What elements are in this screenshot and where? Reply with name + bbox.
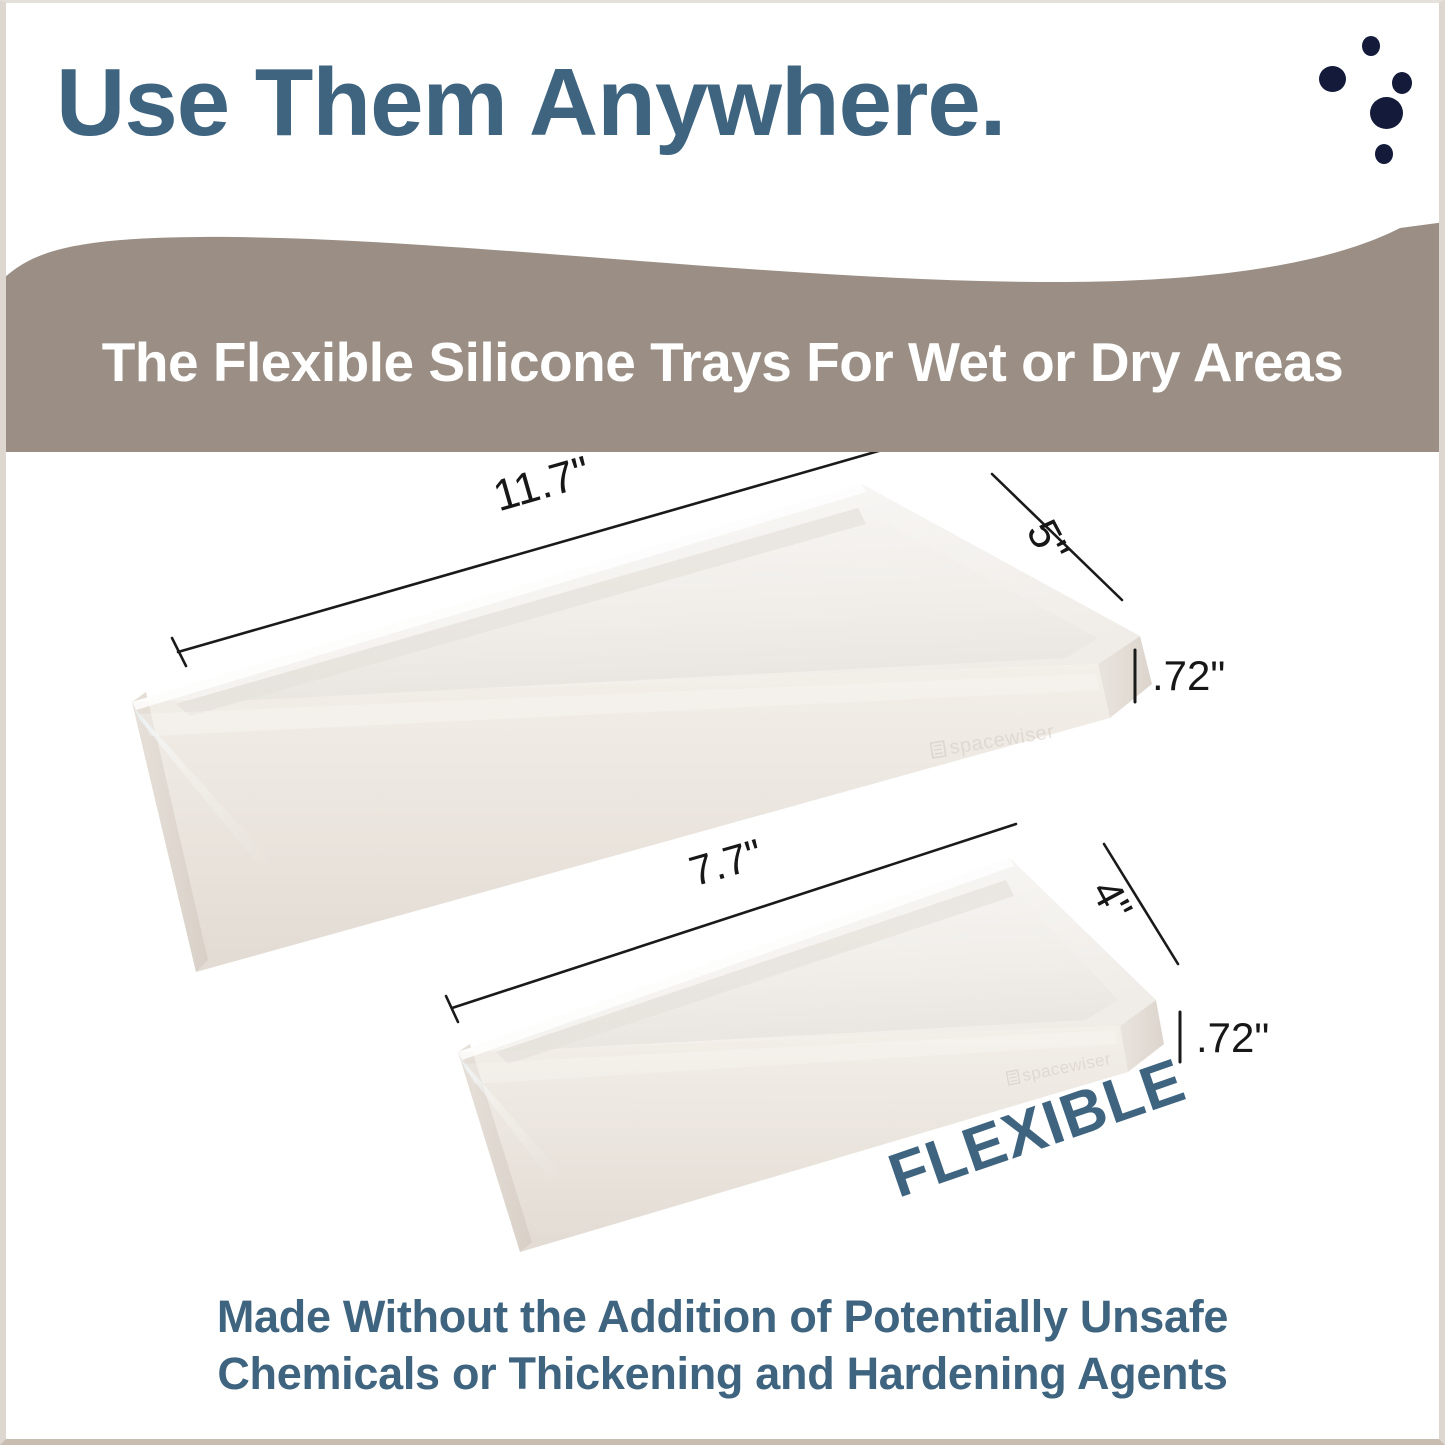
dot-icon bbox=[1319, 66, 1346, 92]
footer-text: Made Without the Addition of Potentially… bbox=[0, 1288, 1445, 1403]
product-infographic: Use Them Anywhere. The Flexible Silicone… bbox=[0, 0, 1445, 1445]
dot-icon bbox=[1370, 97, 1403, 129]
product-stage: spacewiser bbox=[0, 452, 1445, 1312]
small-silicone-tray: spacewiser bbox=[458, 858, 1164, 1252]
page-title: Use Them Anywhere. bbox=[56, 55, 1005, 151]
small-tray-height-label: .72" bbox=[1196, 1014, 1269, 1062]
dot-icon bbox=[1375, 144, 1393, 164]
decorative-dots-group bbox=[1300, 28, 1440, 168]
banner-title: The Flexible Silicone Trays For Wet or D… bbox=[0, 330, 1445, 394]
dot-icon bbox=[1392, 72, 1412, 94]
footer-line-1: Made Without the Addition of Potentially… bbox=[0, 1288, 1445, 1346]
banner: The Flexible Silicone Trays For Wet or D… bbox=[0, 222, 1445, 452]
dot-icon bbox=[1362, 36, 1380, 56]
footer-line-2: Chemicals or Thickening and Hardening Ag… bbox=[0, 1345, 1445, 1403]
large-tray-height-label: .72" bbox=[1152, 652, 1225, 700]
